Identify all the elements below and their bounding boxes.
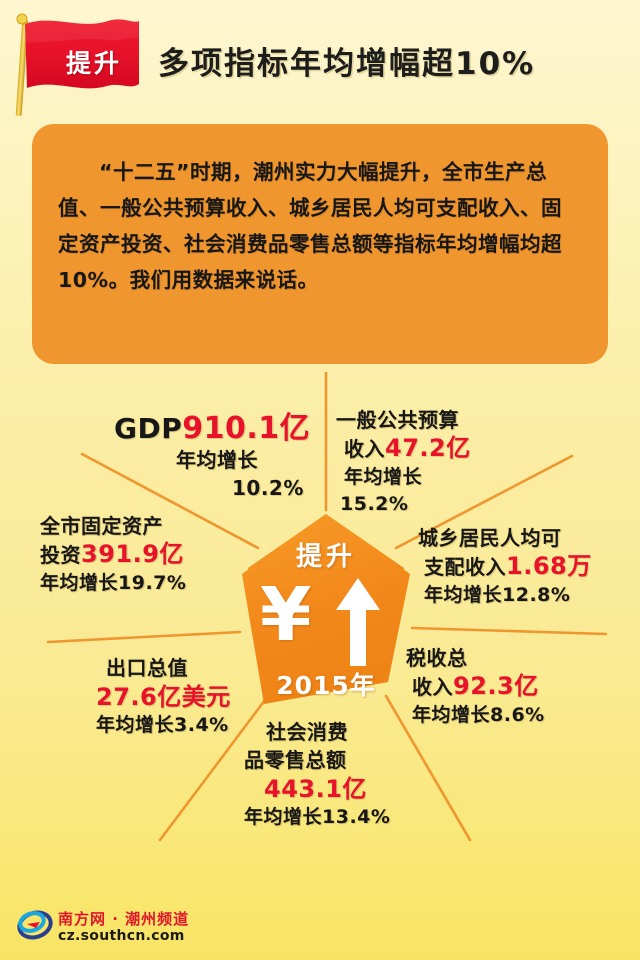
node-fixed-line1: 全市固定资产 bbox=[40, 512, 186, 540]
node-retail-sales: 社会消费 品零售总额 443.1亿 年均增长13.4% bbox=[244, 718, 390, 831]
node-retail-growth: 13.4% bbox=[322, 806, 390, 828]
node-budget-value: 47.2亿 bbox=[385, 434, 471, 462]
node-fixed-growth-label: 年均增长 bbox=[40, 572, 118, 594]
red-flag-banner: 提升 bbox=[8, 8, 148, 118]
yen-icon: ¥ bbox=[260, 578, 312, 652]
up-arrow-icon bbox=[333, 576, 383, 668]
node-export-line1: 出口总值 bbox=[106, 654, 231, 682]
node-tax-growth-label: 年均增长 bbox=[412, 704, 490, 726]
node-disposable-income: 城乡居民人均可 支配收入1.68万 年均增长12.8% bbox=[418, 524, 592, 609]
node-tax-revenue: 税收总 收入92.3亿 年均增长8.6% bbox=[406, 644, 545, 729]
node-budget-line1: 一般公共预算 bbox=[336, 406, 471, 434]
node-income-value: 1.68万 bbox=[506, 552, 592, 580]
node-retail-line1: 社会消费 bbox=[266, 718, 390, 746]
node-gdp-growth-label: 年均增长 bbox=[176, 446, 310, 474]
node-retail-value: 443.1亿 bbox=[264, 774, 390, 804]
node-budget-revenue: 一般公共预算 收入47.2亿 年均增长 15.2% bbox=[336, 406, 471, 518]
node-tax-line2: 收入 bbox=[412, 675, 453, 699]
page-title: 多项指标年均增幅超10% bbox=[158, 38, 535, 83]
node-income-line2: 支配收入 bbox=[424, 555, 506, 579]
node-tax-line1: 税收总 bbox=[406, 644, 545, 672]
footer-site-name: 南方网 · 潮州频道 bbox=[58, 908, 189, 929]
node-fixed-asset-investment: 全市固定资产 投资391.9亿 年均增长19.7% bbox=[40, 512, 186, 597]
southcn-logo-icon bbox=[16, 908, 54, 942]
node-budget-growth: 15.2% bbox=[340, 491, 471, 518]
node-budget-growth-label: 年均增长 bbox=[344, 464, 471, 491]
flag-label: 提升 bbox=[54, 44, 134, 80]
node-budget-line2: 收入 bbox=[344, 437, 385, 461]
node-export-total: 出口总值 27.6亿美元 年均增长3.4% bbox=[96, 654, 231, 739]
infographic-page: 提升 多项指标年均增幅超10% “十二五”时期，潮州实力大幅提升，全市生产总值、… bbox=[0, 0, 640, 960]
footer-url[interactable]: cz.southcn.com bbox=[58, 928, 185, 944]
node-export-value: 27.6亿美元 bbox=[96, 682, 231, 712]
node-tax-value: 92.3亿 bbox=[453, 672, 539, 700]
node-export-growth-label: 年均增长 bbox=[96, 714, 174, 736]
node-income-line1: 城乡居民人均可 bbox=[418, 524, 592, 552]
node-gdp-value: 910.1亿 bbox=[182, 411, 310, 446]
node-gdp: GDP910.1亿 年均增长 10.2% bbox=[114, 412, 310, 502]
node-export-growth: 3.4% bbox=[174, 714, 229, 736]
node-tax-growth: 8.6% bbox=[490, 704, 545, 726]
node-gdp-label: GDP bbox=[114, 412, 182, 445]
node-gdp-growth: 10.2% bbox=[232, 474, 310, 502]
radial-diagram: 提升 ¥ 2015年 GDP910.1亿 年均增长 10.2% 一般公共预算 bbox=[0, 372, 640, 872]
header: 提升 多项指标年均增幅超10% bbox=[0, 0, 640, 118]
center-symbol-group: ¥ bbox=[238, 574, 414, 664]
center-top-label: 提升 bbox=[238, 536, 414, 573]
intro-card: “十二五”时期，潮州实力大幅提升，全市生产总值、一般公共预算收入、城乡居民人均可… bbox=[32, 124, 608, 364]
node-fixed-value: 391.9亿 bbox=[81, 540, 184, 568]
node-retail-growth-label: 年均增长 bbox=[244, 806, 322, 828]
node-fixed-line2: 投资 bbox=[40, 543, 81, 567]
node-income-growth-label: 年均增长 bbox=[424, 584, 502, 606]
center-heptagon: 提升 ¥ 2015年 bbox=[238, 512, 414, 708]
center-bottom-label: 2015年 bbox=[238, 666, 414, 702]
node-income-growth: 12.8% bbox=[502, 584, 570, 606]
node-retail-line2: 品零售总额 bbox=[244, 746, 390, 774]
node-fixed-growth: 19.7% bbox=[118, 572, 186, 594]
intro-paragraph: “十二五”时期，潮州实力大幅提升，全市生产总值、一般公共预算收入、城乡居民人均可… bbox=[58, 154, 582, 298]
